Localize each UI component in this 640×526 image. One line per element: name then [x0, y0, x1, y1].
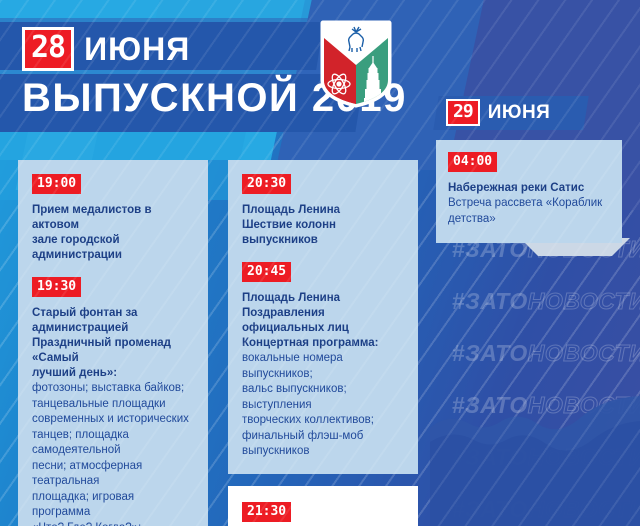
time-badge: 19:30 — [32, 277, 81, 297]
event-title: Старый фонтан заадминистрациейПраздничны… — [32, 306, 194, 381]
time-badge: 19:00 — [32, 174, 81, 194]
time-badge: 20:45 — [242, 262, 291, 282]
event-item: 04:00 Набережная реки Сатис Встреча расс… — [448, 152, 610, 227]
event-item: 20:30 Площадь ЛенинаШествие колонн выпус… — [242, 174, 404, 248]
event-title: Набережная реки Сатис — [448, 181, 610, 196]
month-label-june-1: ИЮНЯ — [84, 33, 190, 65]
time-badge: 20:30 — [242, 174, 291, 194]
event-item: 19:00 Прием медалистов в актовомзале гор… — [32, 174, 194, 263]
event-title: Прием медалистов в актовомзале городской… — [32, 203, 194, 263]
event-item: 20:45 Площадь ЛенинаПоздравления официал… — [242, 262, 404, 460]
watermark-text: #ЗАТОНОВОСТИ — [452, 290, 640, 313]
event-title: Площадь ЛенинаПоздравления официальных л… — [242, 291, 404, 351]
event-title: Площадь ЛенинаШествие колонн выпускников — [242, 203, 404, 248]
header-date-28: 28 ИЮНЯ — [22, 27, 190, 71]
poster-root: #ЗАТОНОВОСТИ#ЗАТОНОВОСТИ#ЗАТОНОВОСТИ#ЗАТ… — [0, 0, 640, 526]
wave-decoration — [430, 336, 640, 526]
time-badge: 04:00 — [448, 152, 497, 172]
day-number-28: 28 — [22, 27, 74, 71]
column-middle: 20:30 Площадь ЛенинаШествие колонн выпус… — [228, 160, 418, 526]
event-body: фотозоны; выставка байков;танцевальные п… — [32, 381, 194, 526]
right-panel: 04:00 Набережная реки Сатис Встреча расс… — [436, 140, 622, 243]
middle-panel: 20:30 Площадь ЛенинаШествие колонн выпус… — [228, 160, 418, 474]
time-badge: 21:30 — [242, 502, 291, 522]
coat-of-arms-icon — [320, 20, 392, 108]
column-left: 19:00 Прием медалистов в актовомзале гор… — [18, 160, 208, 526]
header-date-29: 29 ИЮНЯ — [446, 99, 550, 126]
event-item: 21:30 Танцевальная программас приглашенн… — [242, 502, 404, 526]
middle-highlight-panel: 21:30 Танцевальная программас приглашенн… — [228, 486, 418, 526]
day-number-29: 29 — [446, 99, 480, 126]
event-item: 19:30 Старый фонтан заадминистрациейПраз… — [32, 277, 194, 526]
event-body: Встреча рассвета «Корабликдетства» — [448, 196, 610, 227]
left-panel: 19:00 Прием медалистов в актовомзале гор… — [18, 160, 208, 526]
event-body: вокальные номера выпускников;вальс выпус… — [242, 351, 404, 460]
month-label-june-2: ИЮНЯ — [488, 103, 551, 122]
column-right: 04:00 Набережная реки Сатис Встреча расс… — [436, 140, 622, 243]
